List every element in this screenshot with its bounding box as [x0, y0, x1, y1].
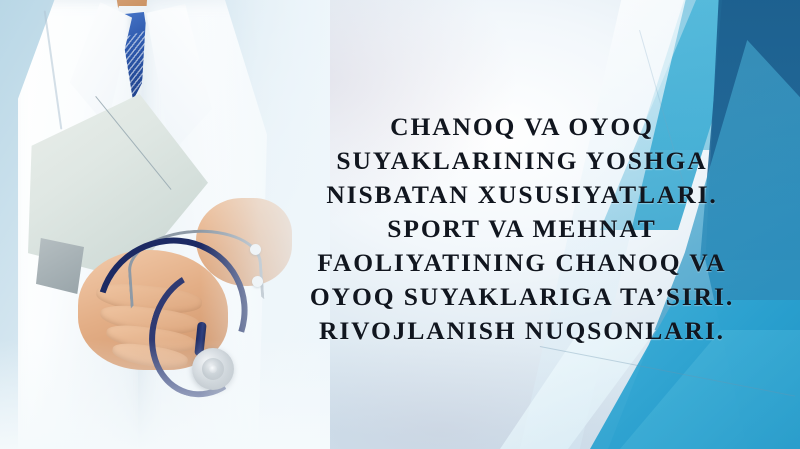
- clipboard-clip: [36, 238, 84, 294]
- title-line: NISBATAN XUSUSIYATLARI.: [262, 178, 782, 212]
- slide-title: CHANOQ VA OYOQ SUYAKLARINING YOSHGA NISB…: [262, 110, 782, 348]
- presentation-slide: CHANOQ VA OYOQ SUYAKLARINING YOSHGA NISB…: [0, 0, 800, 449]
- title-line: SUYAKLARINING YOSHGA: [262, 144, 782, 178]
- title-line: SPORT VA MEHNAT: [262, 212, 782, 246]
- photo-bottom-fade: [0, 339, 330, 449]
- title-line: RIVOJLANISH NUQSONLARI.: [262, 314, 782, 348]
- title-line: CHANOQ VA OYOQ: [262, 110, 782, 144]
- title-line: FAOLIYATINING CHANOQ VA: [262, 246, 782, 280]
- title-line: OYOQ SUYAKLARIGA TA’SIRI.: [262, 280, 782, 314]
